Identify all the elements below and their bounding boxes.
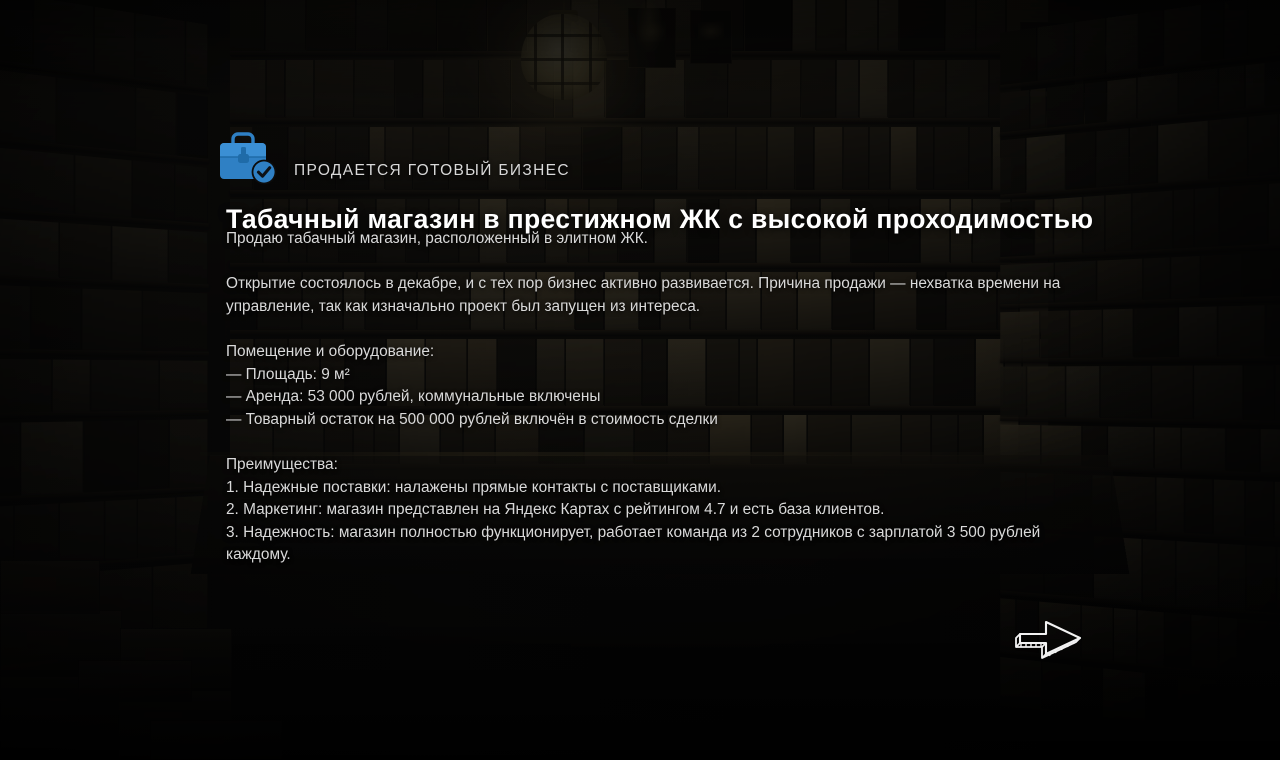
content-layer: ПРОДАЕТСЯ ГОТОВЫЙ БИЗНЕС Табачный магази… (0, 0, 1280, 760)
description-body: Продаю табачный магазин, расположенный в… (226, 228, 1086, 567)
paragraph-spacer (226, 251, 1086, 274)
premises-item: — Площадь: 9 м² (226, 364, 1086, 387)
eyebrow-label: ПРОДАЕТСЯ ГОТОВЫЙ БИЗНЕС (294, 162, 570, 180)
advantages-item: 2. Маркетинг: магазин представлен на Янд… (226, 499, 1086, 522)
paragraph-intro: Продаю табачный магазин, расположенный в… (226, 228, 1086, 251)
briefcase-check-icon (208, 130, 282, 186)
premises-heading: Помещение и оборудование: (226, 341, 1086, 364)
paragraph-spacer (226, 431, 1086, 454)
premises-item: — Аренда: 53 000 рублей, коммунальные вк… (226, 386, 1086, 409)
badge-row: ПРОДАЕТСЯ ГОТОВЫЙ БИЗНЕС (208, 130, 570, 186)
slide-canvas: ПРОДАЕТСЯ ГОТОВЫЙ БИЗНЕС Табачный магази… (0, 0, 1280, 760)
advantages-item: 1. Надежные поставки: налажены прямые ко… (226, 477, 1086, 500)
premises-item: — Товарный остаток на 500 000 рублей вкл… (226, 409, 1086, 432)
arrow-right-doodle-icon (1008, 612, 1092, 660)
advantages-heading: Преимущества: (226, 454, 1086, 477)
paragraph-spacer (226, 318, 1086, 341)
paragraph-story: Открытие состоялось в декабре, и с тех п… (226, 273, 1086, 318)
advantages-item: 3. Надежность: магазин полностью функцио… (226, 522, 1086, 567)
